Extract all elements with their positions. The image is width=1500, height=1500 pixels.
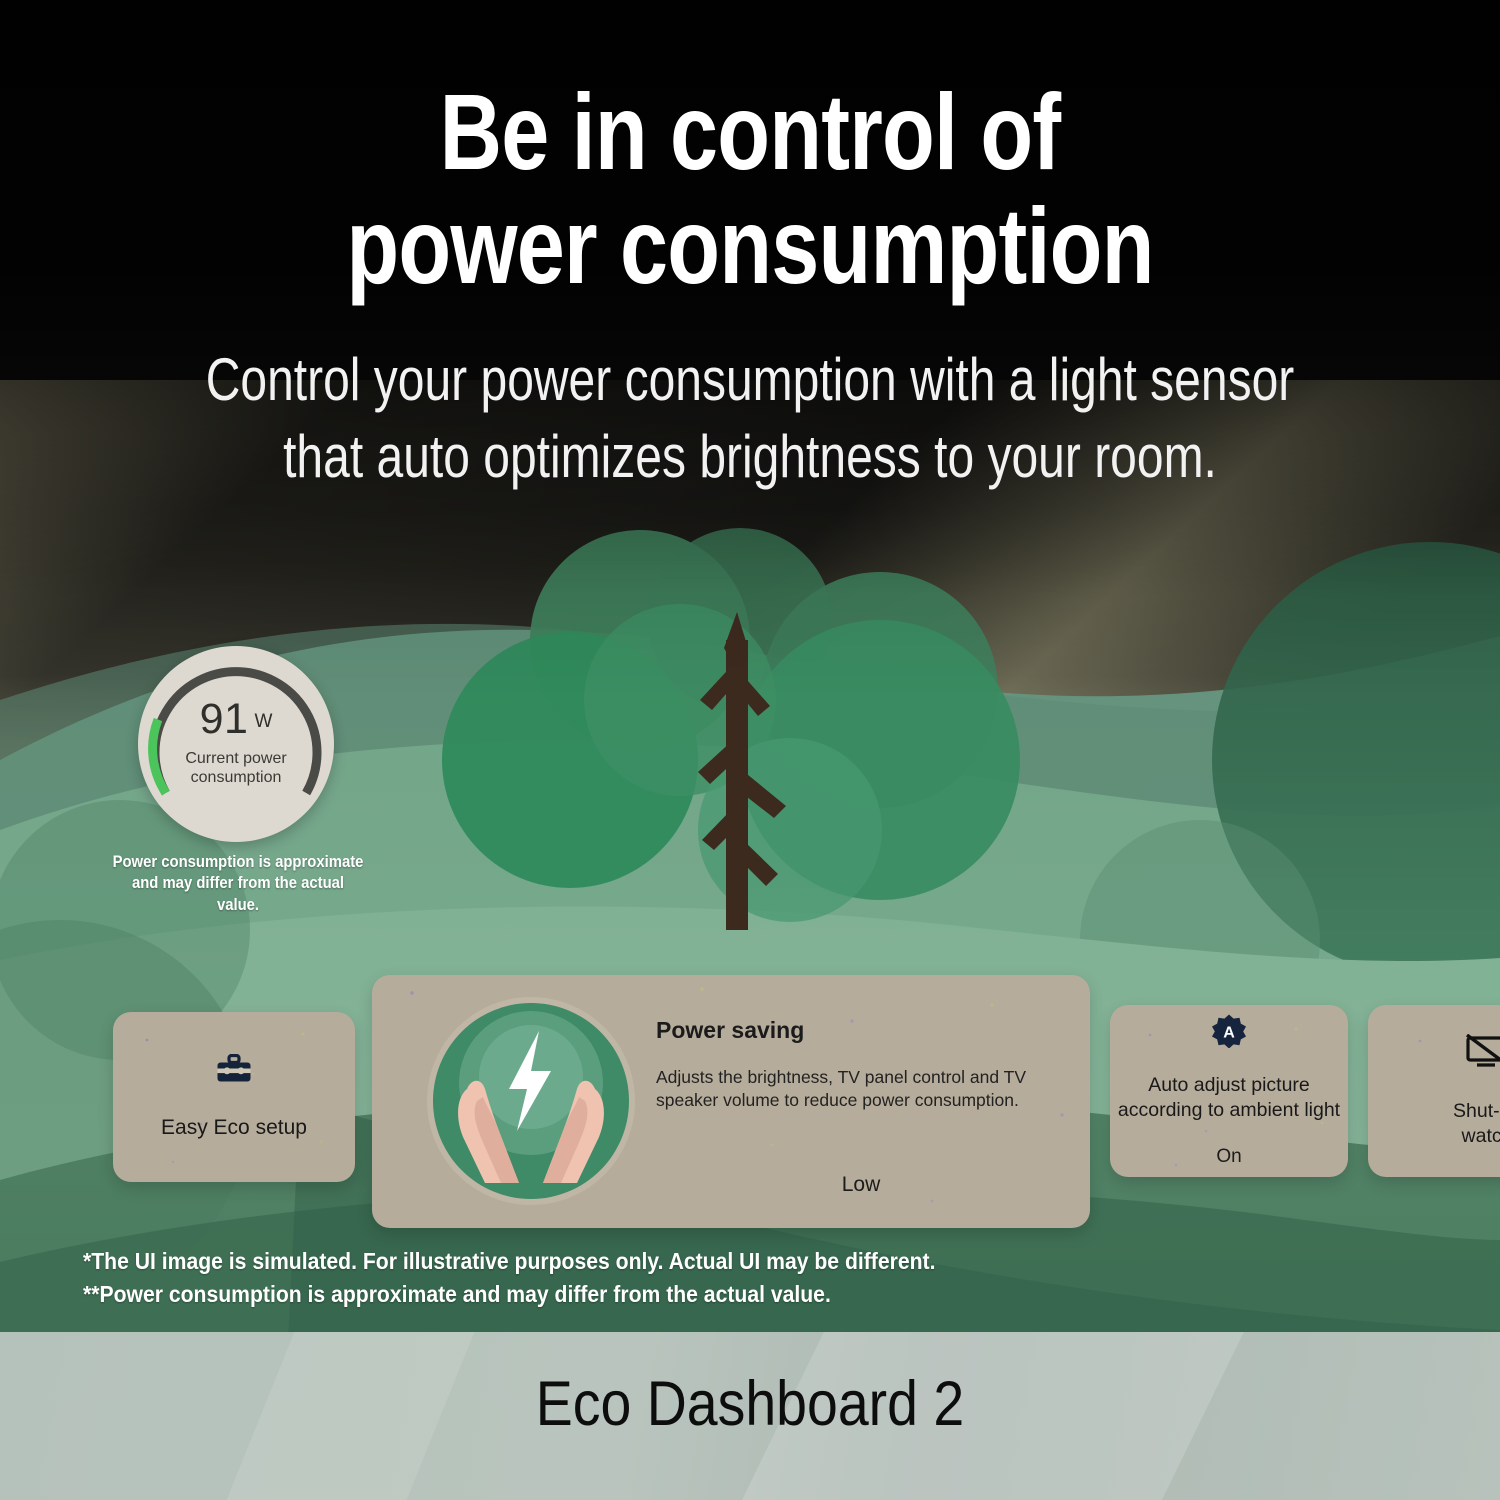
gauge-unit: W xyxy=(254,711,272,732)
gauge-label-line-1: Current power xyxy=(138,750,334,769)
brightness-auto-badge-icon: A xyxy=(1212,1014,1246,1053)
gauge-note-line-1: Power consumption is approximate xyxy=(112,852,364,873)
auto-adjust-title-line-2: according to ambient light xyxy=(1118,1098,1340,1122)
disclaimer-text: *The UI image is simulated. For illustra… xyxy=(83,1245,1187,1310)
shut-off-title-line-1: Shut-off xyxy=(1453,1099,1500,1123)
power-saving-desc-line-2: speaker volume to reduce power consumpti… xyxy=(656,1089,1066,1112)
promo-banner: Be in control of power consumption Contr… xyxy=(0,0,1500,1500)
hands-holding-energy-sphere-icon xyxy=(427,997,635,1205)
gauge-value-row: 91W xyxy=(138,698,334,741)
card-auto-adjust-state[interactable]: On xyxy=(1216,1146,1241,1168)
card-easy-eco-setup[interactable]: Easy Eco setup xyxy=(113,1012,355,1182)
gauge-value: 91 xyxy=(200,695,249,743)
card-shut-off-title: Shut-off watch xyxy=(1453,1099,1500,1147)
toolbox-icon xyxy=(216,1054,252,1089)
disclaimer-line-1: *The UI image is simulated. For illustra… xyxy=(83,1245,1187,1278)
product-feature-title: Eco Dashboard 2 xyxy=(90,1368,1410,1440)
footer-band: Eco Dashboard 2 xyxy=(0,1332,1500,1500)
card-power-saving-state[interactable]: Low xyxy=(656,1173,1066,1197)
gauge-note-line-2: and may differ from the actual value. xyxy=(112,873,364,916)
power-gauge: 91W Current power consumption xyxy=(138,646,334,842)
eco-dashboard-card-row: Easy Eco setup xyxy=(0,975,1500,1240)
card-power-saving[interactable]: Power saving Adjusts the brightness, TV … xyxy=(372,975,1090,1228)
card-power-saving-title: Power saving xyxy=(656,1017,1066,1044)
gauge-note: Power consumption is approximate and may… xyxy=(112,852,364,916)
power-saving-body: Power saving Adjusts the brightness, TV … xyxy=(656,1017,1066,1113)
card-shut-off-watch[interactable]: Shut-off watch xyxy=(1368,1005,1500,1177)
gauge-label-line-2: consumption xyxy=(138,769,334,788)
svg-text:A: A xyxy=(1223,1025,1235,1042)
gauge-readout: 91W Current power consumption xyxy=(138,698,334,788)
card-auto-adjust-title: Auto adjust picture according to ambient… xyxy=(1118,1073,1340,1121)
auto-adjust-title-line-1: Auto adjust picture xyxy=(1118,1073,1340,1097)
gauge-label: Current power consumption xyxy=(138,750,334,788)
tv-off-slash-icon xyxy=(1465,1034,1500,1073)
power-saving-desc-line-1: Adjusts the brightness, TV panel control… xyxy=(656,1066,1066,1089)
card-power-saving-description: Adjusts the brightness, TV panel control… xyxy=(656,1066,1066,1113)
disclaimer-line-2: **Power consumption is approximate and m… xyxy=(83,1278,1187,1311)
card-easy-eco-title: Easy Eco setup xyxy=(161,1115,307,1140)
card-auto-adjust-picture[interactable]: A Auto adjust picture according to ambie… xyxy=(1110,1005,1348,1177)
shut-off-title-line-2: watch xyxy=(1453,1124,1500,1148)
